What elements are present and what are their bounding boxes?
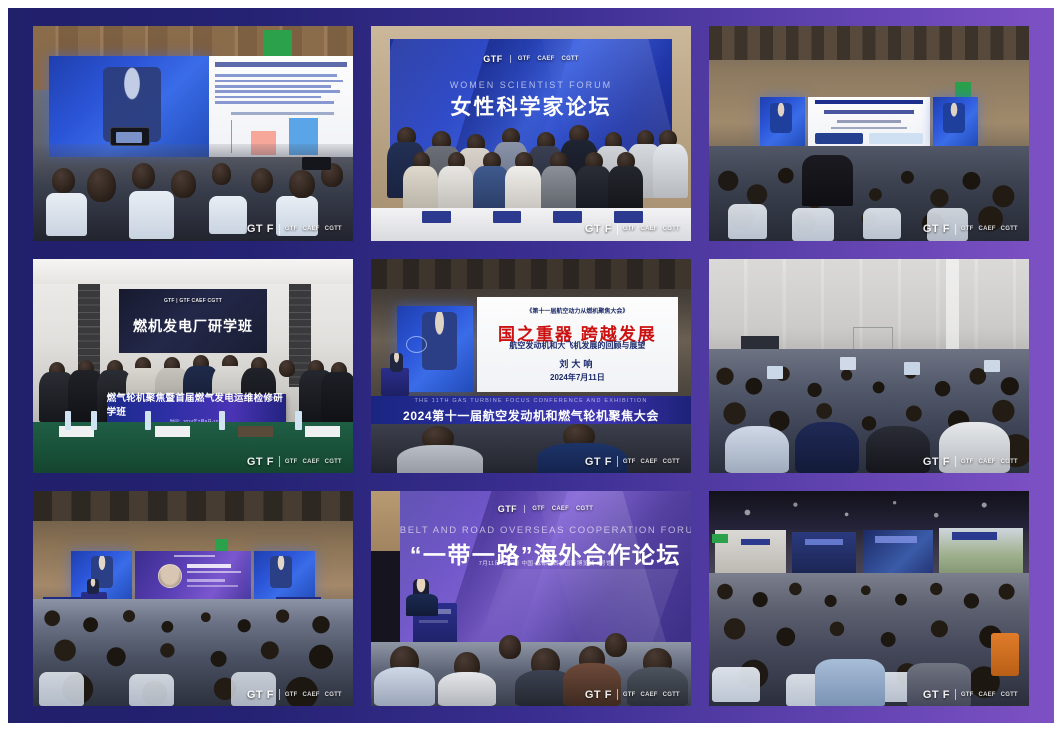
watermark-divider (279, 689, 280, 700)
photo-collage: GT F GTF CAEF CGTT GTF (8, 8, 1054, 723)
screen-logo-gtf: GTF (483, 54, 503, 64)
forum-english-title: WOMEN SCIENTIST FORUM (390, 80, 672, 90)
center-screen-speaker-name (187, 564, 232, 567)
watermark-logo-0: GTF (961, 226, 974, 232)
screen-logo-1: GTF (532, 506, 545, 512)
watermark-gtf: GT F GTF CAEF CGTT (585, 689, 680, 701)
watermark-logo-2: CGTT (325, 459, 342, 465)
slide-bracket-title: 《第十一届航空动力从燃机聚焦大会》 (477, 306, 679, 315)
slide-chart-title (231, 112, 333, 115)
watermark-divider (617, 689, 618, 700)
watermark-logo-1: CAEF (641, 692, 658, 698)
watermark-logo-1: CAEF (303, 692, 320, 698)
photo-bottom-right[interactable]: GT F GTF CAEF CGTT (709, 491, 1029, 706)
photo-top-right[interactable]: GT F GTF CAEF CGTT (709, 26, 1029, 241)
watermark-logo-2: CGTT (1001, 692, 1018, 698)
watermark-divider (955, 689, 956, 700)
screen-logo-1: GTF (518, 56, 531, 62)
watermark-logo-2: CGTT (325, 226, 342, 232)
stage-banner-chinese: 2024第十一届航空发动机和燃气轮机聚焦大会 (371, 407, 691, 424)
class-banner-title: 燃气轮机聚焦暨首届燃气发电运维检修研学班 (107, 390, 286, 418)
watermark-gtf: GT F GTF CAEF CGTT (247, 456, 342, 468)
watermark-divider (617, 456, 618, 467)
watermark-logo-2: CGTT (663, 459, 680, 465)
watermark-divider (955, 224, 956, 235)
forum-info-line: 7月11日-12日｜中国·成都｜西部国际博览城·9号馆 (400, 559, 691, 567)
watermark-main-label: GT F (247, 456, 274, 468)
slide-date: 2024年7月11日 (477, 372, 679, 383)
watermark-logo-1: CAEF (641, 226, 658, 232)
watermark-logo-1: CAEF (303, 226, 320, 232)
watermark-main-label: GT F (247, 223, 274, 235)
watermark-gtf: GT F GTF CAEF CGTT (585, 456, 680, 468)
watermark-divider (955, 456, 956, 467)
watermark-main-label: GT F (585, 689, 612, 701)
slide-subtitle: 航空发动机和大飞机发展的回顾与展望 (477, 340, 679, 351)
watermark-divider (617, 224, 618, 235)
photo-top-left[interactable]: GT F GTF CAEF CGTT (33, 26, 353, 241)
watermark-gtf: GT F GTF CAEF CGTT (923, 689, 1018, 701)
watermark-main-label: GT F (923, 689, 950, 701)
hall-slide-title (824, 110, 914, 114)
class-screen-title: 燃机发电厂研学班 (119, 316, 266, 336)
screen-logo-3: CGTT (562, 56, 579, 62)
watermark-logo-1: CAEF (303, 459, 320, 465)
watermark-logo-2: CGTT (1001, 226, 1018, 232)
stage-banner-english: THE 11TH GAS TURBINE FOCUS CONFERENCE AN… (371, 398, 691, 404)
screen-logo-2: CAEF (537, 56, 554, 62)
watermark-gtf: GT F GTF CAEF CGTT (923, 223, 1018, 235)
watermark-main-label: GT F (585, 456, 612, 468)
watermark-logo-0: GTF (623, 692, 636, 698)
watermark-logo-2: CGTT (663, 226, 680, 232)
watermark-gtf: GT F GTF CAEF CGTT (585, 223, 680, 235)
watermark-gtf: GT F GTF CAEF CGTT (247, 223, 342, 235)
screen-logo-gtf: GTF (498, 504, 518, 514)
photo-middle-left[interactable]: GTF | GTF CAEF CGTT 燃机发电厂研学班 (33, 259, 353, 474)
watermark-logo-0: GTF (961, 459, 974, 465)
watermark-logo-1: CAEF (641, 459, 658, 465)
slide-speaker: 刘大响 (477, 357, 679, 370)
watermark-logo-0: GTF (285, 226, 298, 232)
forum-english-title: BELT AND ROAD OVERSEAS COOPERATION FORUM (400, 525, 691, 536)
photo-bottom-center[interactable]: GTF GTF CAEF CGTT BELT AND ROAD OVERSEAS… (371, 491, 691, 706)
watermark-logo-1: CAEF (979, 459, 996, 465)
watermark-gtf: GT F GTF CAEF CGTT (923, 456, 1018, 468)
photo-middle-center[interactable]: 《第十一届航空动力从燃机聚焦大会》 国之重器 跨越发展 航空发动机和大飞机发展的… (371, 259, 691, 474)
screen-logo-2: CAEF (552, 506, 569, 512)
watermark-main-label: GT F (923, 456, 950, 468)
watermark-logo-0: GTF (285, 459, 298, 465)
watermark-divider (279, 224, 280, 235)
watermark-logo-1: CAEF (979, 226, 996, 232)
watermark-gtf: GT F GTF CAEF CGTT (247, 689, 342, 701)
screen-logo-3: CGTT (576, 506, 593, 512)
watermark-logo-0: GTF (285, 692, 298, 698)
watermark-main-label: GT F (585, 223, 612, 235)
watermark-logo-1: CAEF (979, 692, 996, 698)
watermark-logo-0: GTF (623, 459, 636, 465)
watermark-divider (279, 456, 280, 467)
photo-top-center[interactable]: GTF GTF CAEF CGTT WOMEN SCIENTIST FORUM … (371, 26, 691, 241)
watermark-logo-2: CGTT (325, 692, 342, 698)
watermark-logo-2: CGTT (1001, 459, 1018, 465)
watermark-logo-0: GTF (961, 692, 974, 698)
watermark-logo-0: GTF (623, 226, 636, 232)
photo-middle-right[interactable]: GT F GTF CAEF CGTT (709, 259, 1029, 474)
watermark-main-label: GT F (247, 689, 274, 701)
screen-logo-row: GTF | GTF CAEF CGTT (164, 298, 222, 304)
photo-grid: GT F GTF CAEF CGTT GTF (33, 26, 1029, 706)
photo-bottom-left[interactable]: GT F GTF CAEF CGTT (33, 491, 353, 706)
watermark-main-label: GT F (923, 223, 950, 235)
watermark-logo-2: CGTT (663, 692, 680, 698)
